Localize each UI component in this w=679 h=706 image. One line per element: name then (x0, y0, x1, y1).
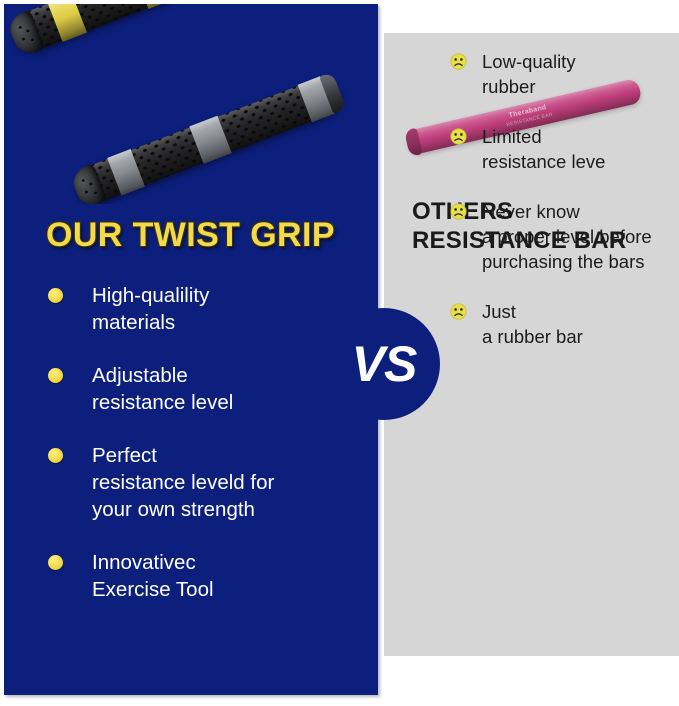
list-item: Perfect resistance leveld for your own s… (48, 442, 364, 523)
list-item-label: Perfect resistance leveld for your own s… (92, 442, 274, 523)
twist-grip-gray (70, 73, 345, 204)
others-drawbacks-list: Low-quality rubber Limited resistance le… (450, 49, 674, 374)
list-item-label: Limited resistance leve (482, 124, 605, 174)
sad-face-icon (450, 128, 467, 145)
list-item-label: Low-quality rubber (482, 49, 576, 99)
yellow-dot-icon (48, 555, 63, 570)
sad-face-icon (450, 203, 467, 220)
list-item: Limited resistance leve (450, 124, 674, 174)
yellow-dot-icon (48, 288, 63, 303)
list-item: Adjustable resistance level (48, 362, 364, 416)
list-item: Just a rubber bar (450, 299, 674, 349)
sad-face-icon (450, 303, 467, 320)
list-item: Low-quality rubber (450, 49, 674, 99)
our-product-heading: OUR TWIST GRIP (46, 216, 335, 255)
comparison-infographic: OUR TWIST GRIP High-qualility materials … (0, 0, 679, 706)
twist-grip-product-image (4, 4, 378, 204)
bar-end-cap (404, 128, 423, 157)
twist-grip-yellow (7, 4, 301, 57)
vs-label: VS (352, 339, 417, 389)
list-item-label: Just a rubber bar (482, 299, 583, 349)
yellow-dot-icon (48, 368, 63, 383)
sad-face-icon (450, 53, 467, 70)
list-item: Never know a proper level before purchas… (450, 199, 674, 274)
list-item-label: High-qualility materials (92, 282, 209, 336)
vs-badge: VS (328, 308, 440, 420)
list-item-label: Never know a proper level before purchas… (482, 199, 652, 274)
list-item-label: Adjustable resistance level (92, 362, 233, 416)
list-item: Innovativec Exercise Tool (48, 549, 364, 603)
list-item-label: Innovativec Exercise Tool (92, 549, 214, 603)
yellow-dot-icon (48, 448, 63, 463)
list-item: High-qualility materials (48, 282, 364, 336)
our-product-panel: OUR TWIST GRIP High-qualility materials … (4, 4, 378, 695)
our-benefits-list: High-qualility materials Adjustable resi… (48, 282, 364, 629)
